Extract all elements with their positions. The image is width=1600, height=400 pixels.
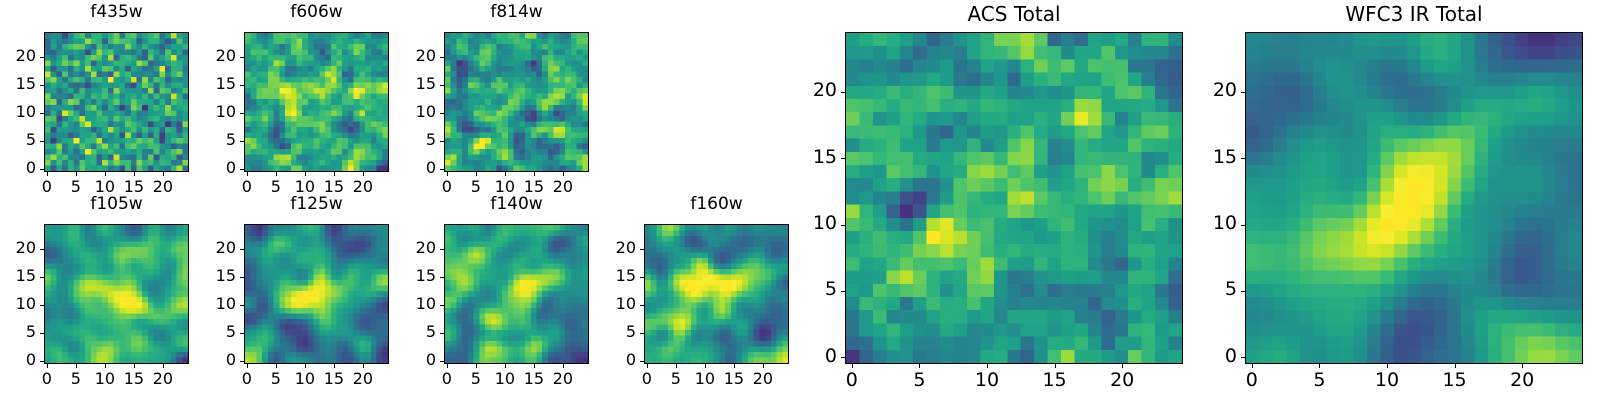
ytick-f105w-0 (40, 361, 44, 362)
xticklabel-acs-total-5: 5 (894, 371, 944, 390)
xtick-f125w-20 (363, 364, 364, 368)
yticklabel-wfc3-ir-total-0: 0 (1201, 347, 1237, 366)
ytick-f606w-15 (240, 85, 244, 86)
xtick-wfc3-ir-total-10 (1387, 364, 1388, 368)
ytick-f814w-10 (440, 113, 444, 114)
yticklabel-f105w-5: 5 (0, 324, 36, 340)
yticklabel-acs-total-15: 15 (801, 148, 837, 167)
heatmap-f160w (645, 225, 788, 363)
yticklabel-f160w-15: 15 (600, 268, 636, 284)
heatmap-f606w (245, 33, 388, 171)
ytick-f814w-20 (440, 57, 444, 58)
xtick-f814w-20 (563, 172, 564, 176)
figure-canvas: f435w0510152005101520f606w05101520051015… (0, 0, 1600, 400)
panel-title-acs-total: ACS Total (845, 4, 1183, 24)
yticklabel-f814w-10: 10 (400, 104, 436, 120)
axes-f125w (244, 224, 389, 364)
xtick-f606w-0 (247, 172, 248, 176)
xticklabel-acs-total-0: 0 (827, 371, 877, 390)
xtick-f435w-0 (47, 172, 48, 176)
axes-f435w (44, 32, 189, 172)
ytick-f125w-10 (240, 305, 244, 306)
xtick-wfc3-ir-total-20 (1522, 364, 1523, 368)
xtick-f125w-0 (247, 364, 248, 368)
yticklabel-f814w-20: 20 (400, 48, 436, 64)
xtick-f140w-15 (534, 364, 535, 368)
yticklabel-f160w-20: 20 (600, 240, 636, 256)
xtick-f140w-20 (563, 364, 564, 368)
yticklabel-f125w-15: 15 (200, 268, 236, 284)
yticklabel-f435w-0: 0 (0, 160, 36, 176)
yticklabel-acs-total-10: 10 (801, 214, 837, 233)
ytick-f435w-10 (40, 113, 44, 114)
xtick-f160w-10 (705, 364, 706, 368)
ytick-f160w-15 (640, 277, 644, 278)
ytick-acs-total-10 (841, 225, 845, 226)
yticklabel-f814w-15: 15 (400, 76, 436, 92)
ytick-acs-total-5 (841, 291, 845, 292)
xtick-f125w-5 (276, 364, 277, 368)
yticklabel-f140w-20: 20 (400, 240, 436, 256)
ytick-f105w-20 (40, 249, 44, 250)
xticklabel-f160w-20: 20 (738, 371, 788, 387)
heatmap-acs-total (846, 33, 1182, 363)
xtick-f125w-10 (305, 364, 306, 368)
yticklabel-f435w-5: 5 (0, 132, 36, 148)
xtick-f140w-5 (476, 364, 477, 368)
xtick-f435w-15 (134, 172, 135, 176)
xtick-acs-total-5 (919, 364, 920, 368)
yticklabel-f125w-20: 20 (200, 240, 236, 256)
panel-wfc3-ir-total: WFC3 IR Total0510152005101520 (1201, 2, 1583, 396)
ytick-f125w-5 (240, 333, 244, 334)
yticklabel-f606w-15: 15 (200, 76, 236, 92)
ytick-f435w-0 (40, 169, 44, 170)
yticklabel-f160w-10: 10 (600, 296, 636, 312)
heatmap-f125w (245, 225, 388, 363)
yticklabel-f160w-5: 5 (600, 324, 636, 340)
xtick-acs-total-15 (1055, 364, 1056, 368)
ytick-f814w-0 (440, 169, 444, 170)
xtick-f160w-20 (763, 364, 764, 368)
xtick-f606w-10 (305, 172, 306, 176)
yticklabel-wfc3-ir-total-5: 5 (1201, 280, 1237, 299)
ytick-acs-total-20 (841, 92, 845, 93)
yticklabel-f125w-5: 5 (200, 324, 236, 340)
ytick-f140w-10 (440, 305, 444, 306)
xtick-wfc3-ir-total-15 (1455, 364, 1456, 368)
xtick-f105w-5 (76, 364, 77, 368)
yticklabel-f105w-20: 20 (0, 240, 36, 256)
ytick-f140w-0 (440, 361, 444, 362)
xtick-f160w-0 (647, 364, 648, 368)
yticklabel-f435w-20: 20 (0, 48, 36, 64)
yticklabel-acs-total-0: 0 (801, 347, 837, 366)
xticklabel-acs-total-15: 15 (1030, 371, 1080, 390)
ytick-f160w-10 (640, 305, 644, 306)
panel-title-f160w: f160w (644, 196, 789, 213)
xtick-f105w-10 (105, 364, 106, 368)
ytick-f435w-15 (40, 85, 44, 86)
yticklabel-f140w-15: 15 (400, 268, 436, 284)
yticklabel-f160w-0: 0 (600, 352, 636, 368)
ytick-wfc3-ir-total-0 (1241, 357, 1245, 358)
xticklabel-f140w-20: 20 (538, 371, 588, 387)
xticklabel-f814w-20: 20 (538, 179, 588, 195)
xticklabel-f606w-20: 20 (338, 179, 388, 195)
heatmap-f814w (445, 33, 588, 171)
yticklabel-f814w-0: 0 (400, 160, 436, 176)
xtick-acs-total-20 (1122, 364, 1123, 368)
axes-f105w (44, 224, 189, 364)
ytick-f140w-5 (440, 333, 444, 334)
ytick-f606w-0 (240, 169, 244, 170)
xticklabel-f125w-20: 20 (338, 371, 388, 387)
xticklabel-wfc3-ir-total-10: 10 (1362, 371, 1412, 390)
axes-f160w (644, 224, 789, 364)
xtick-f105w-20 (163, 364, 164, 368)
panel-acs-total: ACS Total0510152005101520 (801, 2, 1183, 396)
axes-f606w (244, 32, 389, 172)
yticklabel-acs-total-5: 5 (801, 280, 837, 299)
ytick-f105w-10 (40, 305, 44, 306)
ytick-f606w-5 (240, 141, 244, 142)
ytick-f435w-5 (40, 141, 44, 142)
xticklabel-wfc3-ir-total-15: 15 (1430, 371, 1480, 390)
yticklabel-f105w-0: 0 (0, 352, 36, 368)
panel-title-f435w: f435w (44, 4, 189, 21)
axes-acs-total (845, 32, 1183, 364)
axes-f140w (444, 224, 589, 364)
panel-title-f105w: f105w (44, 196, 189, 213)
panel-f814w: f814w0510152005101520 (400, 2, 589, 204)
panel-f125w: f125w0510152005101520 (200, 194, 389, 396)
xtick-f435w-5 (76, 172, 77, 176)
panel-title-wfc3-ir-total: WFC3 IR Total (1245, 4, 1583, 24)
yticklabel-f435w-10: 10 (0, 104, 36, 120)
ytick-f435w-20 (40, 57, 44, 58)
ytick-f160w-0 (640, 361, 644, 362)
heatmap-f105w (45, 225, 188, 363)
panel-f606w: f606w0510152005101520 (200, 2, 389, 204)
xtick-f606w-5 (276, 172, 277, 176)
panel-f140w: f140w0510152005101520 (400, 194, 589, 396)
xtick-f435w-10 (105, 172, 106, 176)
ytick-acs-total-15 (841, 158, 845, 159)
xticklabel-wfc3-ir-total-5: 5 (1294, 371, 1344, 390)
yticklabel-acs-total-20: 20 (801, 81, 837, 100)
xtick-f160w-5 (676, 364, 677, 368)
xtick-f814w-10 (505, 172, 506, 176)
ytick-f125w-0 (240, 361, 244, 362)
xtick-f814w-15 (534, 172, 535, 176)
yticklabel-f606w-20: 20 (200, 48, 236, 64)
yticklabel-f125w-10: 10 (200, 296, 236, 312)
ytick-f140w-20 (440, 249, 444, 250)
yticklabel-f814w-5: 5 (400, 132, 436, 148)
xtick-f814w-5 (476, 172, 477, 176)
heatmap-f140w (445, 225, 588, 363)
heatmap-f435w (45, 33, 188, 171)
panel-f105w: f105w0510152005101520 (0, 194, 189, 396)
ytick-f125w-15 (240, 277, 244, 278)
xtick-f160w-15 (734, 364, 735, 368)
yticklabel-f105w-15: 15 (0, 268, 36, 284)
xtick-f140w-0 (447, 364, 448, 368)
xticklabel-acs-total-20: 20 (1097, 371, 1147, 390)
xticklabel-f435w-20: 20 (138, 179, 188, 195)
xtick-f105w-15 (134, 364, 135, 368)
yticklabel-f105w-10: 10 (0, 296, 36, 312)
ytick-wfc3-ir-total-15 (1241, 158, 1245, 159)
ytick-f814w-5 (440, 141, 444, 142)
yticklabel-f606w-5: 5 (200, 132, 236, 148)
ytick-f160w-5 (640, 333, 644, 334)
yticklabel-f140w-0: 0 (400, 352, 436, 368)
ytick-f160w-20 (640, 249, 644, 250)
xticklabel-acs-total-10: 10 (962, 371, 1012, 390)
xticklabel-wfc3-ir-total-0: 0 (1227, 371, 1277, 390)
ytick-wfc3-ir-total-20 (1241, 92, 1245, 93)
yticklabel-wfc3-ir-total-15: 15 (1201, 148, 1237, 167)
yticklabel-f606w-10: 10 (200, 104, 236, 120)
xtick-f125w-15 (334, 364, 335, 368)
xtick-f140w-10 (505, 364, 506, 368)
yticklabel-f125w-0: 0 (200, 352, 236, 368)
panel-title-f606w: f606w (244, 4, 389, 21)
xtick-f606w-20 (363, 172, 364, 176)
ytick-f606w-20 (240, 57, 244, 58)
xtick-acs-total-0 (852, 364, 853, 368)
yticklabel-f435w-15: 15 (0, 76, 36, 92)
panel-title-f140w: f140w (444, 196, 589, 213)
ytick-f105w-5 (40, 333, 44, 334)
xtick-wfc3-ir-total-5 (1319, 364, 1320, 368)
panel-f160w: f160w0510152005101520 (600, 194, 789, 396)
xticklabel-f105w-20: 20 (138, 371, 188, 387)
ytick-wfc3-ir-total-10 (1241, 225, 1245, 226)
xtick-f606w-15 (334, 172, 335, 176)
yticklabel-wfc3-ir-total-20: 20 (1201, 81, 1237, 100)
xtick-f814w-0 (447, 172, 448, 176)
ytick-f140w-15 (440, 277, 444, 278)
xticklabel-wfc3-ir-total-20: 20 (1497, 371, 1547, 390)
yticklabel-f140w-5: 5 (400, 324, 436, 340)
ytick-f125w-20 (240, 249, 244, 250)
ytick-acs-total-0 (841, 357, 845, 358)
heatmap-wfc3-ir-total (1246, 33, 1582, 363)
panel-f435w: f435w0510152005101520 (0, 2, 189, 204)
ytick-f105w-15 (40, 277, 44, 278)
yticklabel-f606w-0: 0 (200, 160, 236, 176)
panel-title-f125w: f125w (244, 196, 389, 213)
xtick-acs-total-10 (987, 364, 988, 368)
yticklabel-wfc3-ir-total-10: 10 (1201, 214, 1237, 233)
ytick-f606w-10 (240, 113, 244, 114)
axes-wfc3-ir-total (1245, 32, 1583, 364)
yticklabel-f140w-10: 10 (400, 296, 436, 312)
xtick-wfc3-ir-total-0 (1252, 364, 1253, 368)
xtick-f105w-0 (47, 364, 48, 368)
panel-title-f814w: f814w (444, 4, 589, 21)
ytick-f814w-15 (440, 85, 444, 86)
axes-f814w (444, 32, 589, 172)
xtick-f435w-20 (163, 172, 164, 176)
ytick-wfc3-ir-total-5 (1241, 291, 1245, 292)
